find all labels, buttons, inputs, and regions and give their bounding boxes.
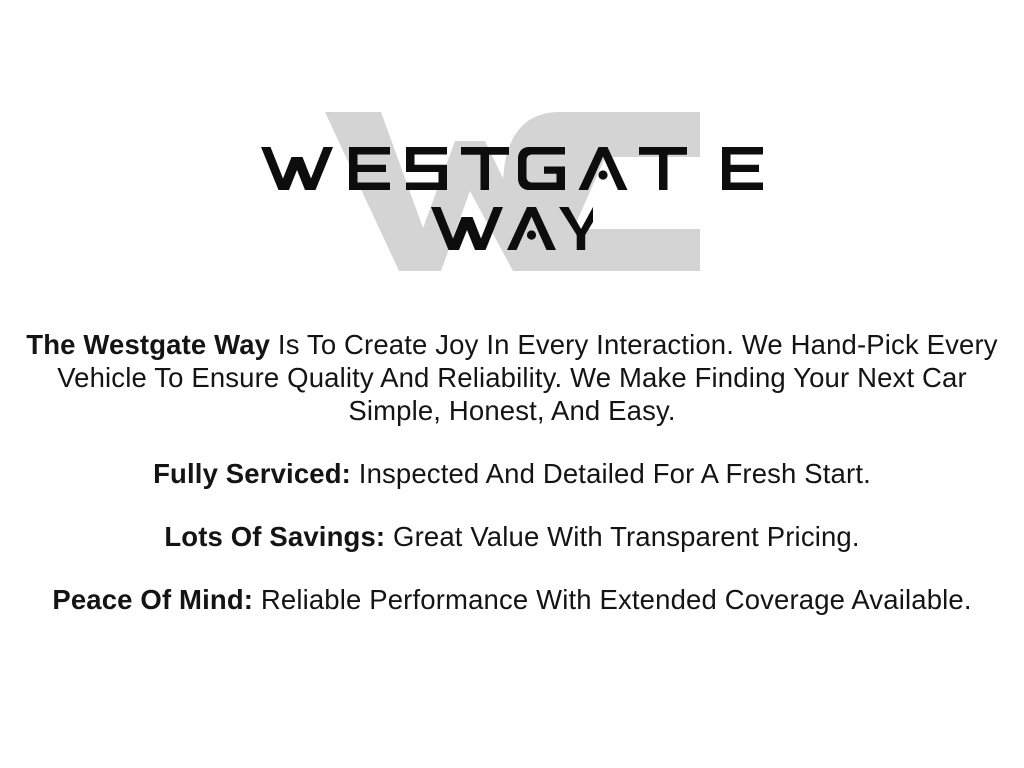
feature-text-fully-serviced: Inspected And Detailed For A Fresh Start… <box>351 458 871 489</box>
feature-text-peace-of-mind: Reliable Performance With Extended Cover… <box>253 584 972 615</box>
wordmark-westgate: WESTGATE <box>0 145 1024 191</box>
feature-peace-of-mind: Peace Of Mind: Reliable Performance With… <box>22 583 1002 616</box>
feature-label-lots-of-savings: Lots Of Savings: <box>164 521 385 552</box>
intro-lede: The Westgate Way <box>26 329 270 360</box>
brand-logo-block: WESTGATE <box>0 95 1024 290</box>
feature-label-peace-of-mind: Peace Of Mind: <box>52 584 253 615</box>
westgate-way-promo-slide: WESTGATE <box>0 0 1024 768</box>
value-proposition-copy: The Westgate Way Is To Create Joy In Eve… <box>22 328 1002 616</box>
wordmark-way: WAY <box>0 205 1024 251</box>
intro-paragraph: The Westgate Way Is To Create Joy In Eve… <box>22 328 1002 427</box>
wordmark-stack: WESTGATE <box>0 95 1024 290</box>
feature-lots-of-savings: Lots Of Savings: Great Value With Transp… <box>22 520 1002 553</box>
feature-fully-serviced: Fully Serviced: Inspected And Detailed F… <box>22 457 1002 490</box>
feature-text-lots-of-savings: Great Value With Transparent Pricing. <box>385 521 859 552</box>
feature-label-fully-serviced: Fully Serviced: <box>153 458 351 489</box>
